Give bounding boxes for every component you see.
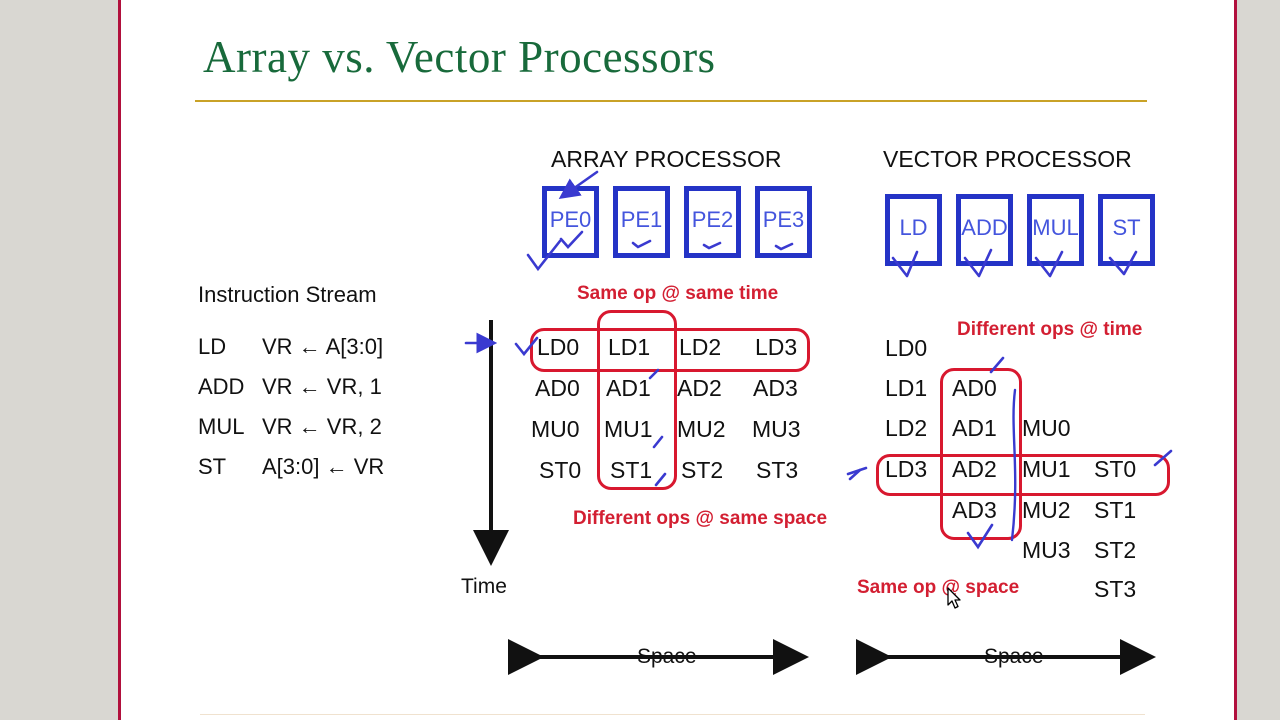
vector-cell-ld-2: LD2: [885, 415, 927, 442]
array-unit-pe1-label: PE1: [621, 207, 663, 233]
vector-note-bottom: Same op @ space: [857, 577, 1019, 599]
vector-unit-add[interactable]: ADD: [956, 194, 1013, 266]
right-gutter: [1240, 0, 1280, 720]
left-gutter: [0, 0, 118, 720]
vector-unit-add-label: ADD: [961, 215, 1007, 241]
array-cell-3-3: ST3: [756, 457, 798, 484]
array-space-axis-label: Space: [634, 645, 700, 669]
array-cell-3-0: ST0: [539, 457, 581, 484]
instruction-op-1: ADD: [198, 374, 244, 400]
vector-cell-ld-0: LD0: [885, 335, 927, 362]
vector-space-axis-label: Space: [981, 645, 1047, 669]
array-cell-1-3: AD3: [753, 375, 798, 402]
array-cell-1-1: AD1: [606, 375, 651, 402]
time-axis-label: Time: [461, 575, 507, 599]
vector-cell-st-3: ST3: [1094, 576, 1136, 603]
array-cell-2-1: MU1: [604, 416, 653, 443]
instruction-op-0: LD: [198, 334, 226, 360]
instruction-op-3: ST: [198, 454, 226, 480]
array-unit-pe0-label: PE0: [550, 207, 592, 233]
instruction-op-2: MUL: [198, 414, 244, 440]
array-cell-2-2: MU2: [677, 416, 726, 443]
vector-unit-mul[interactable]: MUL: [1027, 194, 1084, 266]
title-underline: [195, 100, 1147, 102]
array-cell-3-1: ST1: [610, 457, 652, 484]
array-note-bottom: Different ops @ same space: [573, 508, 827, 530]
array-unit-pe1[interactable]: PE1: [613, 186, 670, 258]
vector-note-top: Different ops @ time: [957, 319, 1142, 341]
right-accent-rule: [1234, 0, 1237, 720]
vector-cell-add-0: AD0: [952, 375, 997, 402]
vector-cell-ld-1: LD1: [885, 375, 927, 402]
array-unit-pe3-label: PE3: [763, 207, 805, 233]
vector-cell-ld-3: LD3: [885, 456, 927, 483]
array-processor-heading: ARRAY PROCESSOR: [551, 146, 781, 173]
vector-unit-st[interactable]: ST: [1098, 194, 1155, 266]
array-cell-2-0: MU0: [531, 416, 580, 443]
page-title: Array vs. Vector Processors: [203, 31, 716, 83]
vector-unit-ld-label: LD: [899, 215, 927, 241]
array-unit-pe2-label: PE2: [692, 207, 734, 233]
instruction-operands-0: VR ← A[3:0]: [262, 334, 383, 360]
array-cell-0-2: LD2: [679, 334, 721, 361]
array-cell-1-0: AD0: [535, 375, 580, 402]
array-unit-pe3[interactable]: PE3: [755, 186, 812, 258]
vector-unit-mul-label: MUL: [1032, 215, 1078, 241]
vector-cell-st-2: ST2: [1094, 537, 1136, 564]
vector-cell-add-3: AD3: [952, 497, 997, 524]
slide-body: [121, 0, 1234, 720]
array-cell-1-2: AD2: [677, 375, 722, 402]
array-unit-pe0[interactable]: PE0: [542, 186, 599, 258]
vector-cell-mul-1: MU1: [1022, 456, 1071, 483]
vector-processor-heading: VECTOR PROCESSOR: [883, 146, 1132, 173]
array-unit-pe2[interactable]: PE2: [684, 186, 741, 258]
array-cell-0-1: LD1: [608, 334, 650, 361]
array-cell-0-3: LD3: [755, 334, 797, 361]
instruction-operands-2: VR ← VR, 2: [262, 414, 382, 440]
vector-cell-add-1: AD1: [952, 415, 997, 442]
array-note-top: Same op @ same time: [577, 283, 778, 305]
instruction-operands-1: VR ← VR, 1: [262, 374, 382, 400]
footer-rule: [200, 714, 1145, 715]
vector-unit-st-label: ST: [1112, 215, 1140, 241]
array-cell-0-0: LD0: [537, 334, 579, 361]
array-cell-2-3: MU3: [752, 416, 801, 443]
vector-cell-mul-2: MU2: [1022, 497, 1071, 524]
slide-canvas: Array vs. Vector Processors Instruction …: [0, 0, 1280, 720]
vector-cell-mul-0: MU0: [1022, 415, 1071, 442]
instruction-operands-3: A[3:0] ← VR: [262, 454, 384, 480]
vector-cell-st-1: ST1: [1094, 497, 1136, 524]
vector-cell-add-2: AD2: [952, 456, 997, 483]
vector-cell-st-0: ST0: [1094, 456, 1136, 483]
vector-unit-ld[interactable]: LD: [885, 194, 942, 266]
vector-cell-mul-3: MU3: [1022, 537, 1071, 564]
array-cell-3-2: ST2: [681, 457, 723, 484]
instruction-stream-heading: Instruction Stream: [198, 282, 377, 308]
